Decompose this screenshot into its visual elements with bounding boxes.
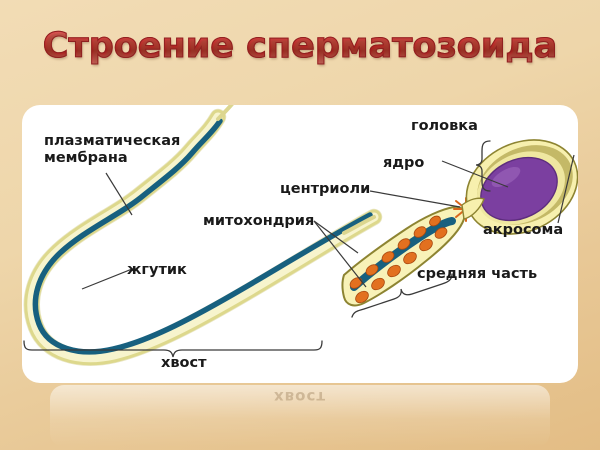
label-head: головка xyxy=(411,118,478,135)
leader-flagellum xyxy=(82,269,132,289)
label-acrosome: акросома xyxy=(483,222,563,239)
label-centrioles: центриоли xyxy=(280,181,370,198)
label-plasma-membrane: плазматическая мембрана xyxy=(44,133,180,167)
reflection-text-tail: хвост xyxy=(0,388,600,406)
diagram-card: плазматическая мембрана жгутик хвост мит… xyxy=(22,105,578,383)
slide-canvas: Строение сперматозоида xyxy=(0,0,600,450)
label-mitochondria: митохондрия xyxy=(203,213,314,230)
label-plasma-membrane-line2: мембрана xyxy=(44,150,128,166)
label-flagellum: жгутик xyxy=(127,262,187,279)
label-nucleus: ядро xyxy=(383,155,424,172)
label-midpiece: средняя часть xyxy=(417,266,537,283)
leader-centrioles xyxy=(370,191,460,207)
label-tail: хвост xyxy=(161,355,207,372)
page-title: Строение сперматозоида xyxy=(0,26,600,66)
label-plasma-membrane-line1: плазматическая xyxy=(44,133,180,149)
